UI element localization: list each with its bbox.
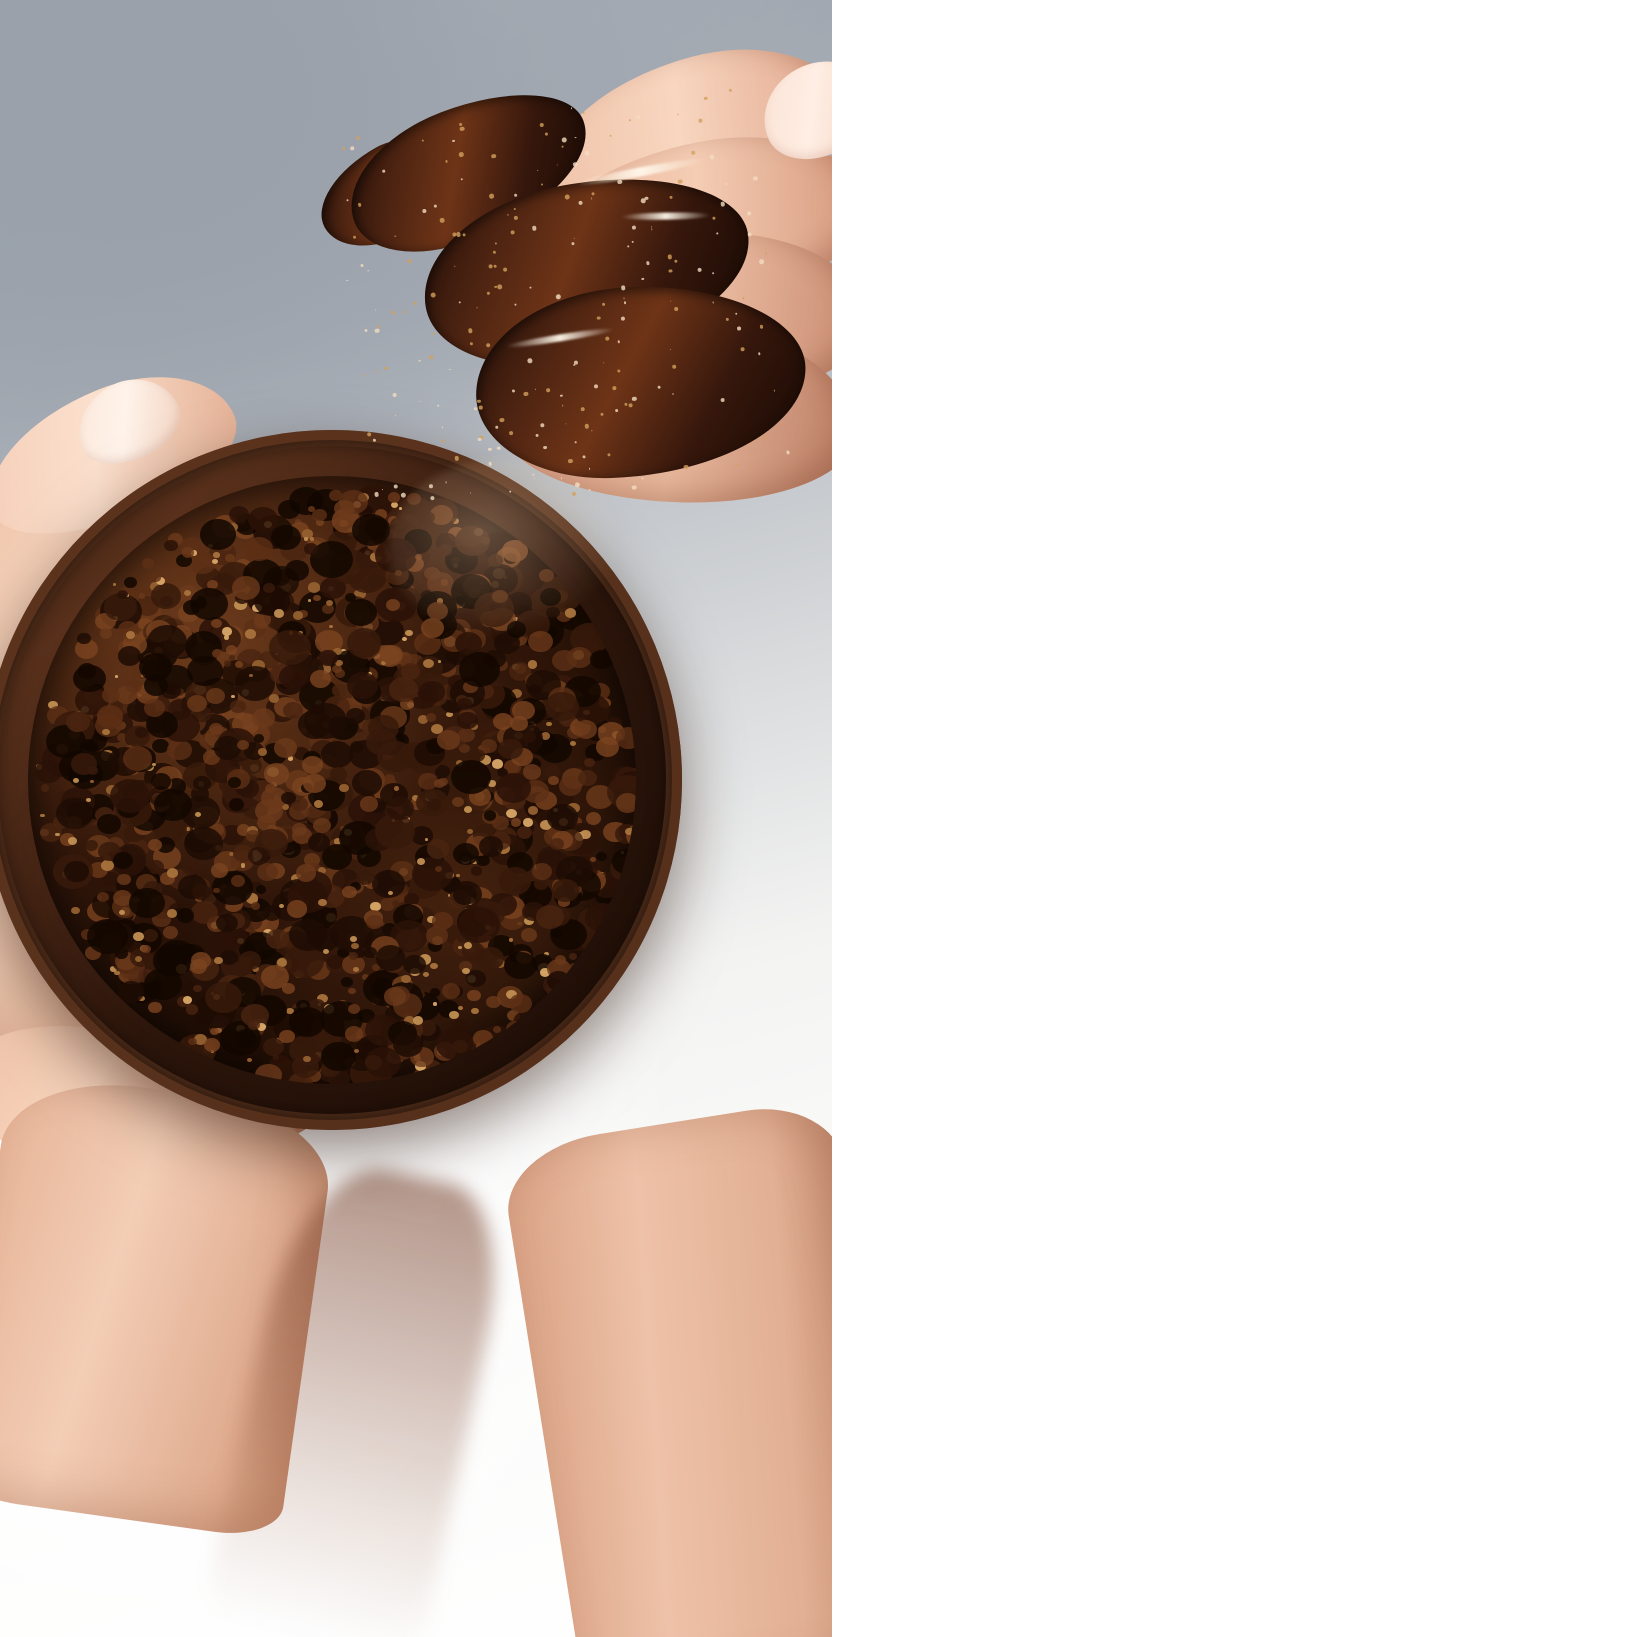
directions-to-use-slide: Directions to Use Take the required amou… [0,0,1637,1637]
product-photo [0,0,832,1637]
text-panel: Directions to Use Take the required amou… [832,0,1637,1637]
upper-hand [303,28,832,563]
